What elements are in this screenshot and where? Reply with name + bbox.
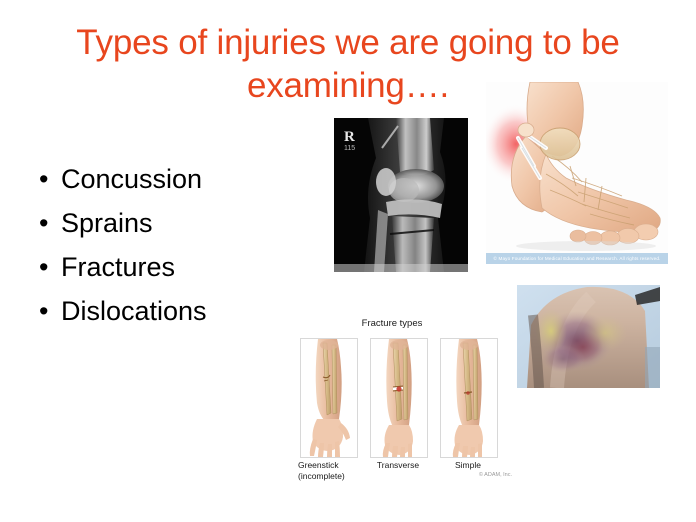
fracture-panel-transverse bbox=[370, 338, 428, 458]
bullet-icon: • bbox=[39, 166, 48, 193]
transverse-fracture-graphic bbox=[371, 339, 427, 457]
simple-fracture-graphic bbox=[441, 339, 497, 457]
presentation-slide: Types of injuries we are going to be exa… bbox=[0, 0, 696, 522]
list-item-label: Dislocations bbox=[61, 296, 207, 326]
xray-marker-sublabel: 115 bbox=[344, 145, 355, 152]
list-item: • Fractures bbox=[36, 254, 306, 281]
knee-xray-photo: R 115 bbox=[334, 118, 468, 272]
ankle-sprain-illustration: © Mayo Foundation for Medical Education … bbox=[486, 82, 668, 264]
fracture-label-transverse: Transverse bbox=[362, 460, 434, 471]
greenstick-fracture-graphic bbox=[301, 339, 357, 457]
bruise-graphic bbox=[517, 285, 660, 388]
list-item: • Dislocations bbox=[36, 298, 306, 325]
bullet-icon: • bbox=[39, 254, 48, 281]
list-item-label: Concussion bbox=[61, 164, 202, 194]
fracture-label-greenstick: Greenstick (incomplete) bbox=[292, 460, 368, 481]
fracture-diagram-title: Fracture types bbox=[292, 318, 492, 329]
bullet-icon: • bbox=[39, 298, 48, 325]
bruise-photo bbox=[517, 285, 660, 388]
xray-side-marker-label: R bbox=[344, 130, 355, 145]
fracture-types-diagram: Fracture types bbox=[292, 318, 512, 490]
list-item-label: Sprains bbox=[61, 208, 153, 238]
fracture-panel-simple bbox=[440, 338, 498, 458]
fracture-diagram-credit: © ADAM, Inc. bbox=[442, 472, 512, 478]
ankle-image-credit: © Mayo Foundation for Medical Education … bbox=[486, 253, 668, 264]
fracture-label-simple: Simple bbox=[432, 460, 504, 471]
list-item: • Sprains bbox=[36, 210, 306, 237]
injury-types-list: • Concussion • Sprains • Fractures • Dis… bbox=[36, 166, 306, 342]
list-item-label: Fractures bbox=[61, 252, 175, 282]
ankle-sprain-graphic bbox=[486, 82, 668, 264]
bullet-icon: • bbox=[39, 210, 48, 237]
fracture-panel-greenstick bbox=[300, 338, 358, 458]
list-item: • Concussion bbox=[36, 166, 306, 193]
